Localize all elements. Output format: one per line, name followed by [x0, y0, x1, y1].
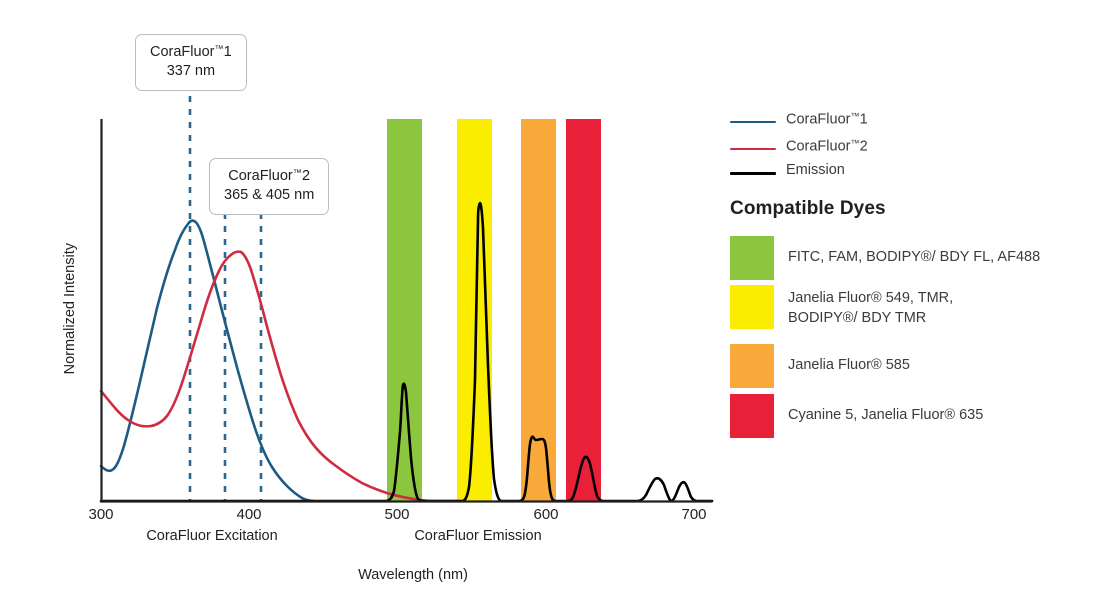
callout-1-line1: CoraFluor	[150, 44, 214, 60]
dye-label-yellow: Janelia Fluor® 549, TMR, BODIPY®/ BDY TM…	[788, 288, 953, 328]
figure-root: 300 400 500 600 700 CoraFluor Excitation…	[0, 0, 1110, 612]
compatible-dyes-heading: Compatible Dyes	[730, 198, 886, 220]
dye-band-green	[387, 119, 422, 501]
callout-1-tm: ™	[214, 43, 223, 53]
curve-corafluor-1	[101, 221, 314, 501]
dye-label-red: Cyanine 5, Janelia Fluor® 635	[788, 405, 983, 425]
y-axis-title: Normalized Intensity	[62, 243, 78, 374]
dye-label-orange: Janelia Fluor® 585	[788, 355, 910, 375]
region-label-excitation: CoraFluor Excitation	[146, 528, 277, 544]
legend-swatch-line-corafluor-2	[730, 148, 776, 150]
xtick-600: 600	[533, 506, 558, 523]
dye-swatch-green	[730, 236, 774, 280]
legend-label-corafluor-1: CoraFluor™1	[786, 111, 868, 128]
callout-corafluor-1: CoraFluor™1 337 nm	[135, 34, 247, 91]
xtick-400: 400	[236, 506, 261, 523]
legend-label-corafluor-2: CoraFluor™2	[786, 138, 868, 155]
dye-bands	[387, 119, 601, 501]
dye-swatch-orange	[730, 344, 774, 388]
xtick-300: 300	[88, 506, 113, 523]
dye-label-green: FITC, FAM, BODIPY®/ BDY FL, AF488	[788, 247, 1040, 267]
xtick-700: 700	[681, 506, 706, 523]
xtick-500: 500	[384, 506, 409, 523]
dye-band-orange	[521, 119, 556, 501]
legend-swatch-line-corafluor-1	[730, 121, 776, 123]
legend-label-emission: Emission	[786, 162, 845, 178]
chart-area: 300 400 500 600 700 CoraFluor Excitation…	[0, 0, 730, 612]
dye-swatch-red	[730, 394, 774, 438]
callout-2-line2: 365 & 405 nm	[224, 186, 314, 205]
region-label-emission: CoraFluor Emission	[414, 528, 541, 544]
dye-swatch-yellow	[730, 285, 774, 329]
callout-1-line2: 337 nm	[150, 62, 232, 81]
callout-corafluor-2: CoraFluor™2 365 & 405 nm	[209, 158, 329, 215]
excitation-marker-lines	[190, 96, 261, 501]
legend-panel: CoraFluor™1 CoraFluor™2 Emission Compati…	[730, 0, 1110, 612]
dye-band-red	[566, 119, 601, 501]
callout-2-tm: ™	[293, 167, 302, 177]
callout-2-suffix: 2	[302, 168, 310, 184]
x-axis-title: Wavelength (nm)	[358, 567, 468, 583]
callout-1-suffix: 1	[224, 44, 232, 60]
callout-2-line1: CoraFluor	[228, 168, 292, 184]
legend-swatch-line-emission	[730, 172, 776, 175]
